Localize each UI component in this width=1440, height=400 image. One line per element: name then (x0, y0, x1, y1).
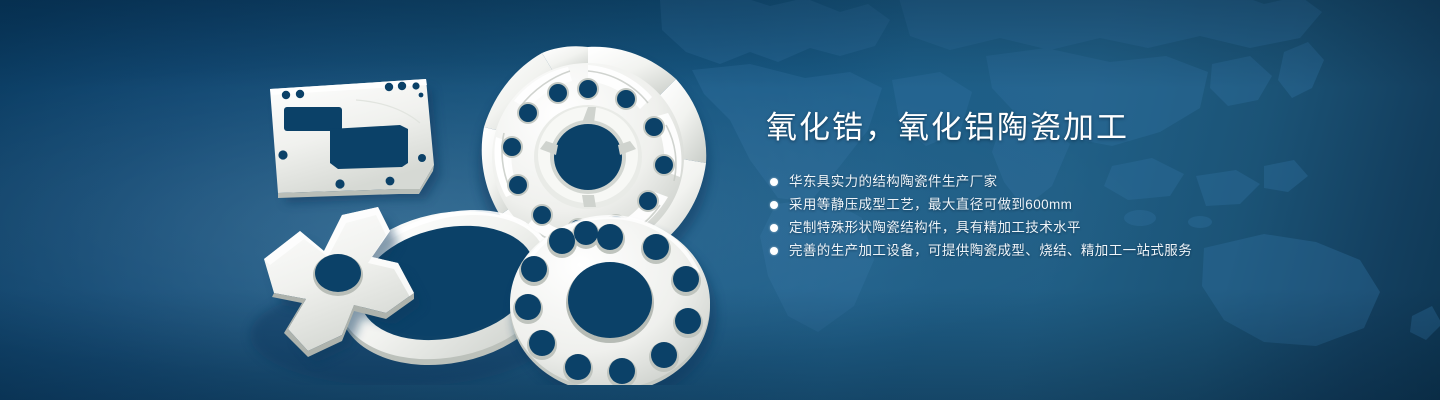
bullet-dot-icon (770, 224, 778, 232)
bullet-dot-icon (770, 247, 778, 255)
list-item: 采用等静压成型工艺，最大直径可做到600mm (770, 193, 1386, 216)
list-item: 定制特殊形状陶瓷结构件，具有精加工技术水平 (770, 216, 1386, 239)
feature-text: 华东具实力的结构陶瓷件生产厂家 (789, 170, 998, 193)
feature-list: 华东具实力的结构陶瓷件生产厂家 采用等静压成型工艺，最大直径可做到600mm 定… (766, 170, 1386, 262)
list-item: 华东具实力的结构陶瓷件生产厂家 (770, 170, 1386, 193)
page-title: 氧化锆，氧化铝陶瓷加工 (766, 108, 1386, 148)
feature-text: 定制特殊形状陶瓷结构件，具有精加工技术水平 (789, 216, 1081, 239)
feature-text: 采用等静压成型工艺，最大直径可做到600mm (789, 193, 1072, 216)
bullet-dot-icon (770, 178, 778, 186)
marketing-copy: 氧化锆，氧化铝陶瓷加工 华东具实力的结构陶瓷件生产厂家 采用等静压成型工艺，最大… (766, 108, 1386, 262)
hero-banner: 氧化锆，氧化铝陶瓷加工 华东具实力的结构陶瓷件生产厂家 采用等静压成型工艺，最大… (0, 0, 1440, 400)
feature-text: 完善的生产加工设备，可提供陶瓷成型、烧结、精加工一站式服务 (789, 239, 1192, 262)
list-item: 完善的生产加工设备，可提供陶瓷成型、烧结、精加工一站式服务 (770, 239, 1386, 262)
bullet-dot-icon (770, 201, 778, 209)
